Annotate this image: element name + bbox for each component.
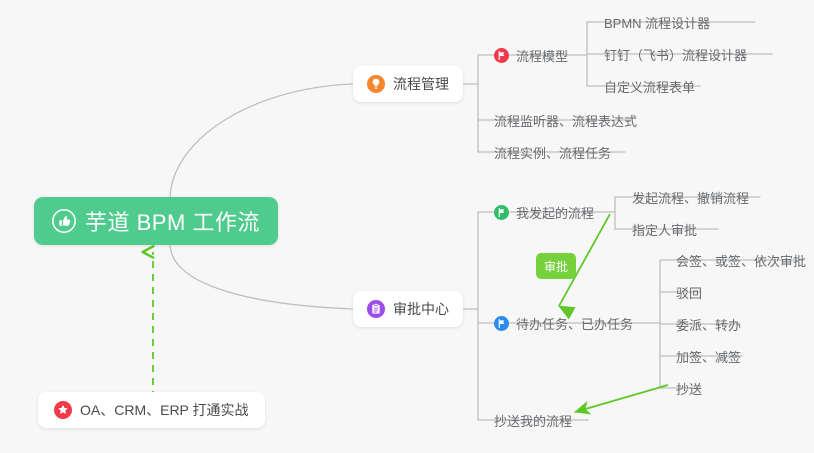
leaf-node-label: 加签、减签 (676, 347, 741, 366)
leaf-node-cc[interactable]: 抄送 (672, 375, 707, 401)
leaf-node-label: 钉钉（飞书）流程设计器 (604, 45, 747, 64)
leaf-node-label: 待办任务、已办任务 (516, 314, 633, 333)
leaf-node-label: 流程实例、流程任务 (494, 143, 611, 162)
leaf-node-label: 流程监听器、流程表达式 (494, 111, 637, 130)
branch-node-approval-center[interactable]: 审批中心 (353, 291, 463, 327)
cc-link-arrow (575, 385, 668, 412)
leaf-node-process-model[interactable]: 流程模型 (490, 42, 573, 68)
approval-tag-label: 审批 (544, 258, 568, 275)
leaf-node-custom-form[interactable]: 自定义流程表单 (600, 73, 700, 99)
leaf-node-label: 会签、或签、依次审批 (676, 251, 806, 270)
flag-icon (494, 48, 509, 63)
leaf-node-todo-done-tasks[interactable]: 待办任务、已办任务 (490, 310, 638, 336)
flag-icon (494, 316, 509, 331)
leaf-node-add-remove-sign[interactable]: 加签、减签 (672, 343, 746, 369)
leaf-node-my-initiated[interactable]: 我发起的流程 (490, 199, 599, 225)
flag-icon (494, 205, 509, 220)
callout-node[interactable]: OA、CRM、ERP 打通实战 (38, 392, 265, 428)
thumbs-up-icon (52, 209, 76, 233)
branch-node-process-management[interactable]: 流程管理 (353, 66, 463, 102)
leaf-node-start-cancel-process[interactable]: 发起流程、撤销流程 (628, 184, 754, 210)
lightbulb-icon (367, 75, 385, 93)
leaf-node-label: 发起流程、撤销流程 (632, 188, 749, 207)
callout-node-label: OA、CRM、ERP 打通实战 (80, 400, 249, 420)
leaf-node-bpmn-designer[interactable]: BPMN 流程设计器 (600, 9, 715, 35)
star-icon (54, 401, 72, 419)
leaf-node-label: 抄送 (676, 379, 702, 398)
leaf-node-label: 委派、转办 (676, 315, 741, 334)
leaf-node-process-listener[interactable]: 流程监听器、流程表达式 (490, 107, 642, 133)
mindmap-canvas: 芋道 BPM 工作流 OA、CRM、ERP 打通实战 流程管理 (0, 0, 814, 453)
root-node-label: 芋道 BPM 工作流 (85, 205, 260, 237)
leaf-node-label: 自定义流程表单 (604, 77, 695, 96)
leaf-node-process-instance[interactable]: 流程实例、流程任务 (490, 139, 616, 165)
leaf-node-countersign[interactable]: 会签、或签、依次审批 (672, 247, 811, 273)
leaf-node-label: 指定人审批 (632, 220, 697, 239)
approval-tag[interactable]: 审批 (536, 253, 576, 279)
branch-node-label: 流程管理 (393, 74, 449, 94)
clipboard-icon (367, 300, 385, 318)
leaf-node-dingtalk-designer[interactable]: 钉钉（飞书）流程设计器 (600, 41, 752, 67)
leaf-node-label: 抄送我的流程 (494, 411, 572, 430)
leaf-node-label: BPMN 流程设计器 (604, 13, 710, 32)
leaf-node-label: 我发起的流程 (516, 203, 594, 222)
leaf-node-label: 流程模型 (516, 46, 568, 65)
leaf-node-delegate-transfer[interactable]: 委派、转办 (672, 311, 746, 337)
leaf-node-label: 驳回 (676, 283, 702, 302)
branch-node-label: 审批中心 (393, 299, 449, 319)
leaf-node-cc-to-me[interactable]: 抄送我的流程 (490, 407, 577, 433)
leaf-node-reject[interactable]: 驳回 (672, 279, 707, 305)
root-node[interactable]: 芋道 BPM 工作流 (34, 197, 278, 245)
leaf-node-assignee-approval[interactable]: 指定人审批 (628, 216, 702, 242)
